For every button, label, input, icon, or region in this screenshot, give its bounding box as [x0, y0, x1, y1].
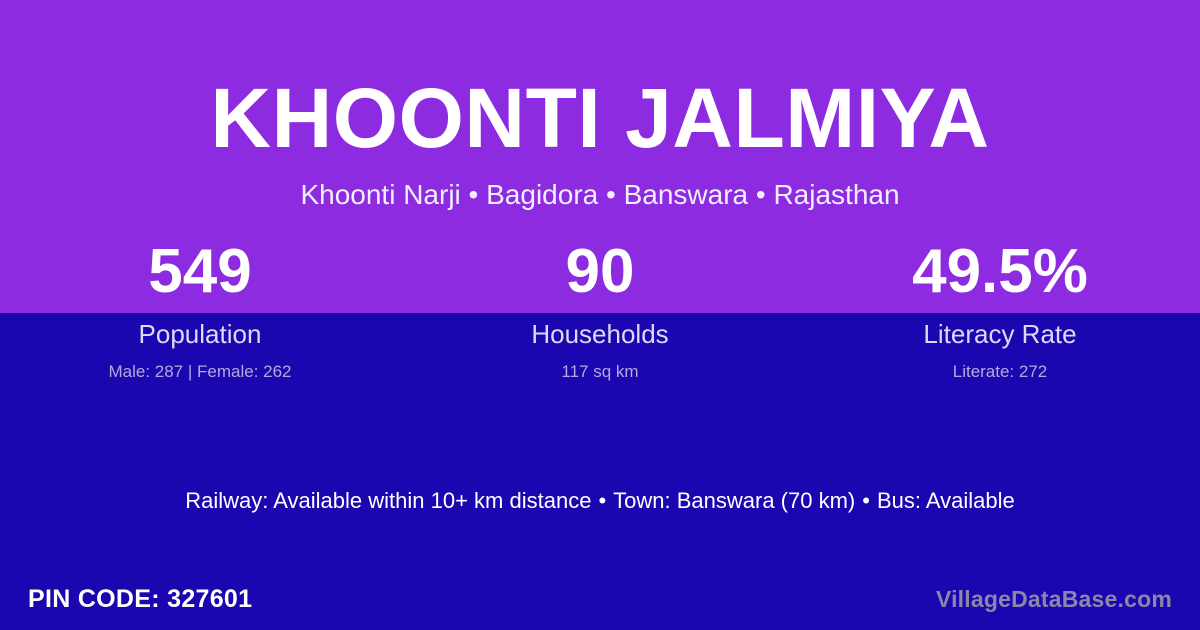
- infra-railway: Railway: Available within 10+ km distanc…: [185, 488, 591, 513]
- village-info-card: KHOONTI JALMIYA Khoonti Narji • Bagidora…: [0, 0, 1200, 630]
- card-footer: PIN CODE: 327601 VillageDataBase.com: [0, 568, 1200, 630]
- infra-separator-2: •: [855, 488, 877, 513]
- stat-households: 90 Households 117 sq km: [400, 241, 800, 383]
- infra-town: Town: Banswara (70 km): [613, 488, 855, 513]
- stats-row: 549 Population Male: 287 | Female: 262 9…: [0, 241, 1200, 383]
- stat-detail-households: 117 sq km: [400, 349, 800, 383]
- stat-value-households: 90: [400, 241, 800, 313]
- stat-value-population: 549: [0, 241, 400, 313]
- page-title: KHOONTI JALMIYA: [0, 0, 1200, 160]
- stat-population: 549 Population Male: 287 | Female: 262: [0, 241, 400, 383]
- infrastructure-line: Railway: Available within 10+ km distanc…: [0, 487, 1200, 515]
- pin-code-label: PIN CODE: 327601: [28, 584, 252, 614]
- stat-label-households: Households: [400, 313, 800, 349]
- stat-literacy-rate: 49.5% Literacy Rate Literate: 272: [800, 241, 1200, 383]
- stat-label-population: Population: [0, 313, 400, 349]
- stat-detail-literacy-rate: Literate: 272: [800, 349, 1200, 383]
- card-header: KHOONTI JALMIYA Khoonti Narji • Bagidora…: [0, 0, 1200, 212]
- infra-bus: Bus: Available: [877, 488, 1015, 513]
- stat-value-literacy-rate: 49.5%: [800, 241, 1200, 313]
- infra-separator-1: •: [591, 488, 613, 513]
- stat-detail-population: Male: 287 | Female: 262: [0, 349, 400, 383]
- breadcrumb: Khoonti Narji • Bagidora • Banswara • Ra…: [0, 160, 1200, 212]
- brand-watermark: VillageDataBase.com: [936, 585, 1172, 613]
- stat-label-literacy-rate: Literacy Rate: [800, 313, 1200, 349]
